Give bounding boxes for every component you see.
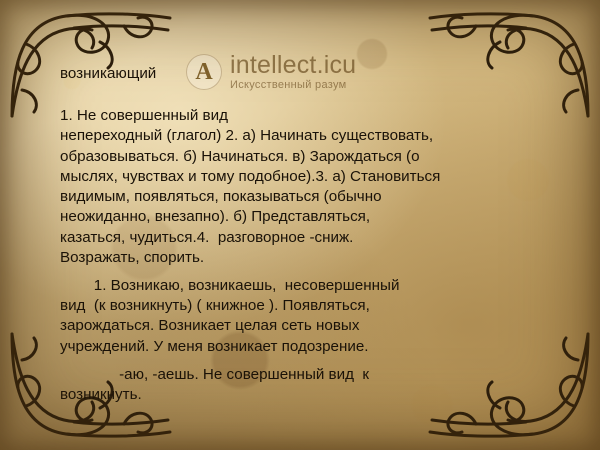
parchment-page: A intellect.icu Искусственный разум возн… bbox=[0, 0, 600, 450]
entry-headword: возникающий bbox=[60, 64, 538, 84]
dictionary-entry: возникающий 1. Не совершенный вид непере… bbox=[60, 64, 538, 405]
entry-sense-1: 1. Не совершенный вид непереходный (глаг… bbox=[60, 106, 538, 268]
entry-sense-3: -аю, -аешь. Не совершенный вид к возникн… bbox=[60, 365, 538, 405]
entry-sense-2: 1. Возникаю, возникаешь, несовершенный в… bbox=[60, 276, 538, 357]
